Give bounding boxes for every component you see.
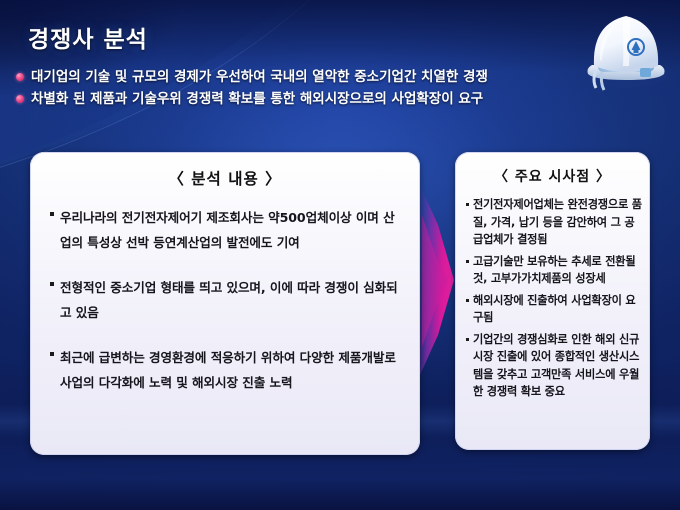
- bullet-dot-icon: [16, 73, 24, 81]
- list-item: 고급기술만 보유하는 추세로 전환될 것, 고부가가치제품의 성장세: [466, 253, 642, 288]
- list-item-text: 해외시장에 진출하여 사업확장이 요구됨: [473, 292, 642, 327]
- list-item: 우리나라의 전기전자제어기 제조회사는 약500업체이상 이며 산업의 특성상 …: [50, 205, 402, 255]
- square-bullet-icon: [50, 212, 54, 216]
- list-item-text: 고급기술만 보유하는 추세로 전환될 것, 고부가가치제품의 성장세: [473, 253, 642, 288]
- right-panel-title: 〈 주요 시사점 〉: [455, 152, 650, 186]
- list-item-text: 기업간의 경쟁심화로 인한 해외 신규시장 진출에 있어 종합적인 생산시스템을…: [473, 331, 642, 401]
- left-panel-item-list: 우리나라의 전기전자제어기 제조회사는 약500업체이상 이며 산업의 특성상 …: [30, 189, 420, 395]
- square-bullet-icon: [466, 338, 469, 341]
- list-item-text: 전기전자제어업체는 완전경쟁으로 품질, 가격, 납기 등을 감안하여 그 공급…: [473, 196, 642, 249]
- bullet-dot-icon: [16, 95, 24, 103]
- header-bullet-item: 대기업의 기술 및 규모의 경제가 우선하여 국내의 열악한 중소기업간 치열한…: [16, 68, 660, 86]
- square-bullet-icon: [50, 352, 54, 356]
- square-bullet-icon: [50, 282, 54, 286]
- left-panel-title: 〈 분석 내용 〉: [30, 152, 420, 189]
- list-item: 전기전자제어업체는 완전경쟁으로 품질, 가격, 납기 등을 감안하여 그 공급…: [466, 196, 642, 249]
- right-panel-item-list: 전기전자제어업체는 완전경쟁으로 품질, 가격, 납기 등을 감안하여 그 공급…: [455, 186, 650, 401]
- header-bullet-text: 대기업의 기술 및 규모의 경제가 우선하여 국내의 열악한 중소기업간 치열한…: [31, 68, 488, 86]
- list-item: 최근에 급변하는 경영환경에 적응하기 위하여 다양한 제품개발로 사업의 다각…: [50, 345, 402, 395]
- right-arrow-icon: [420, 185, 456, 375]
- list-item: 해외시장에 진출하여 사업확장이 요구됨: [466, 292, 642, 327]
- list-item: 기업간의 경쟁심화로 인한 해외 신규시장 진출에 있어 종합적인 생산시스템을…: [466, 331, 642, 401]
- header-bullet-item: 차별화 된 제품과 기술우위 경쟁력 확보를 통한 해외시장으로의 사업확장이 …: [16, 90, 660, 108]
- square-bullet-icon: [466, 299, 469, 302]
- list-item: 전형적인 중소기업 형태를 띄고 있으며, 이에 따라 경쟁이 심화되고 있음: [50, 275, 402, 325]
- analysis-content-panel: 〈 분석 내용 〉 우리나라의 전기전자제어기 제조회사는 약500업체이상 이…: [30, 152, 420, 455]
- list-item-text: 전형적인 중소기업 형태를 띄고 있으며, 이에 따라 경쟁이 심화되고 있음: [60, 275, 402, 325]
- square-bullet-icon: [466, 260, 469, 263]
- list-item-text: 우리나라의 전기전자제어기 제조회사는 약500업체이상 이며 산업의 특성상 …: [60, 205, 402, 255]
- header-bullet-list: 대기업의 기술 및 규모의 경제가 우선하여 국내의 열악한 중소기업간 치열한…: [16, 68, 660, 112]
- page-title: 경쟁사 분석: [28, 20, 148, 54]
- square-bullet-icon: [466, 203, 469, 206]
- list-item-text: 최근에 급변하는 경영환경에 적응하기 위하여 다양한 제품개발로 사업의 다각…: [60, 345, 402, 395]
- key-implications-panel: 〈 주요 시사점 〉 전기전자제어업체는 완전경쟁으로 품질, 가격, 납기 등…: [455, 152, 650, 450]
- presentation-slide: 경쟁사 분석: [0, 0, 680, 510]
- header-bullet-text: 차별화 된 제품과 기술우위 경쟁력 확보를 통한 해외시장으로의 사업확장이 …: [31, 90, 483, 108]
